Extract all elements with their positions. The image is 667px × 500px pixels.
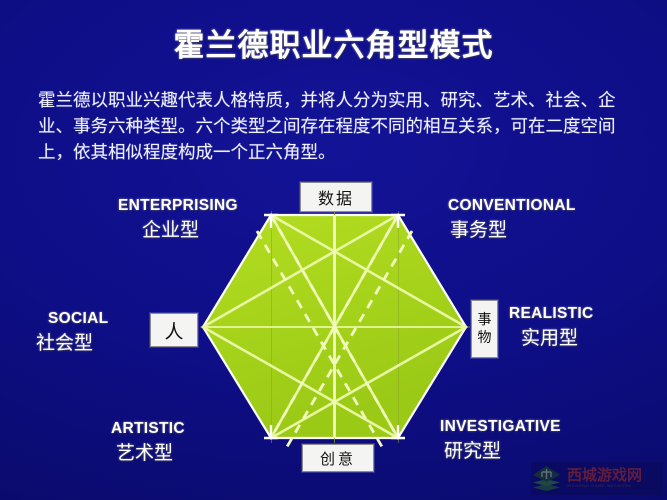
- axis-box-thing-char1: 事: [478, 311, 492, 329]
- type-label-investigative-en: INVESTIGATIVE: [440, 418, 561, 435]
- axis-box-idea: 创意: [302, 444, 374, 472]
- type-label-investigative: INVESTIGATIVE 研究型: [440, 418, 561, 464]
- type-label-artistic-en: ARTISTIC: [111, 420, 185, 437]
- type-label-social-en: SOCIAL: [48, 310, 108, 327]
- watermark-text-group: 西城游戏网 XICHENG GAME NETWORK: [567, 468, 642, 489]
- type-label-artistic: ARTISTIC 艺术型: [111, 420, 185, 466]
- type-label-conventional-en: CONVENTIONAL: [448, 197, 576, 214]
- type-label-enterprising: ENTERPRISING 企业型: [118, 197, 238, 243]
- watermark: 西城游戏网 XICHENG GAME NETWORK: [531, 462, 663, 495]
- type-label-conventional: CONVENTIONAL 事务型: [448, 197, 576, 243]
- type-label-conventional-zh: 事务型: [450, 217, 576, 243]
- hexagon-graphic: [0, 0, 667, 500]
- type-label-enterprising-zh: 企业型: [142, 217, 238, 243]
- watermark-subtext: XICHENG GAME NETWORK: [567, 483, 642, 489]
- type-label-realistic: REALISTIC 实用型: [509, 305, 594, 351]
- watermark-text: 西城游戏网: [567, 468, 642, 483]
- type-label-social: SOCIAL 社会型: [48, 310, 108, 356]
- watermark-logo-icon: [531, 465, 562, 492]
- hexagon-diagram: ENTERPRISING 企业型 CONVENTIONAL 事务型 SOCIAL…: [0, 0, 667, 500]
- axis-box-data: 数据: [300, 182, 372, 212]
- type-label-investigative-zh: 研究型: [444, 438, 561, 464]
- axis-box-thing: 事 物: [471, 300, 498, 358]
- type-label-enterprising-en: ENTERPRISING: [118, 197, 238, 214]
- type-label-social-zh: 社会型: [36, 330, 108, 356]
- slide-canvas: 霍兰德职业六角型模式 霍兰德以职业兴趣代表人格特质，并将人分为实用、研究、艺术、…: [0, 0, 667, 500]
- type-label-realistic-en: REALISTIC: [509, 305, 594, 322]
- axis-box-person: 人: [150, 313, 198, 347]
- type-label-artistic-zh: 艺术型: [116, 440, 185, 466]
- axis-box-thing-char2: 物: [478, 329, 492, 347]
- type-label-realistic-zh: 实用型: [521, 325, 594, 351]
